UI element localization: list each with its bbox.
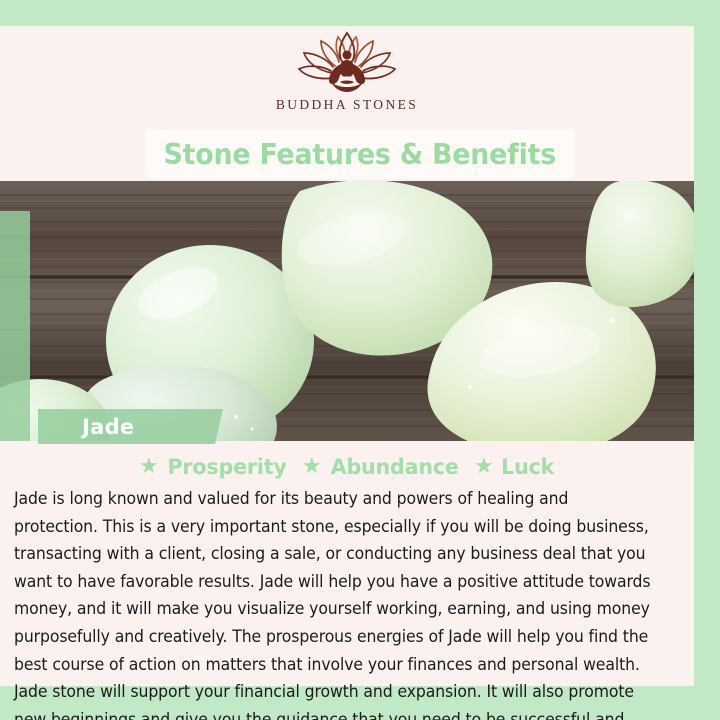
benefit-item-abundance: ★ Abundance — [302, 455, 461, 480]
benefit-label: Luck — [501, 455, 554, 480]
stone-description: Jade is long known and valued for its be… — [14, 485, 656, 720]
content-card: BUDDHA STONES Stone Features & Benefits — [0, 26, 694, 686]
top-green-wedge — [0, 0, 720, 26]
page-title: Stone Features & Benefits — [164, 138, 556, 171]
benefit-label: Prosperity — [167, 455, 286, 480]
infographic-canvas: BUDDHA STONES Stone Features & Benefits — [0, 0, 720, 720]
star-icon: ★ — [474, 455, 494, 477]
benefits-row: ★ Prosperity ★ Abundance ★ Luck — [0, 446, 694, 488]
right-green-rail — [694, 0, 720, 720]
star-icon: ★ — [139, 455, 159, 477]
benefit-item-luck: ★ Luck — [474, 455, 555, 480]
stone-name-label: Jade — [82, 415, 134, 439]
stone-name-tab: Jade — [38, 409, 223, 444]
brand-wordmark: BUDDHA STONES — [276, 97, 418, 113]
benefit-label: Abundance — [330, 455, 458, 480]
title-banner: Stone Features & Benefits — [145, 129, 575, 179]
star-icon: ★ — [302, 455, 322, 477]
hero-left-green-rail — [0, 211, 30, 441]
benefit-item-prosperity: ★ Prosperity — [139, 455, 289, 480]
brand-header: BUDDHA STONES — [0, 26, 694, 129]
hero-photo — [0, 181, 694, 441]
lotus-meditation-icon — [295, 30, 399, 96]
